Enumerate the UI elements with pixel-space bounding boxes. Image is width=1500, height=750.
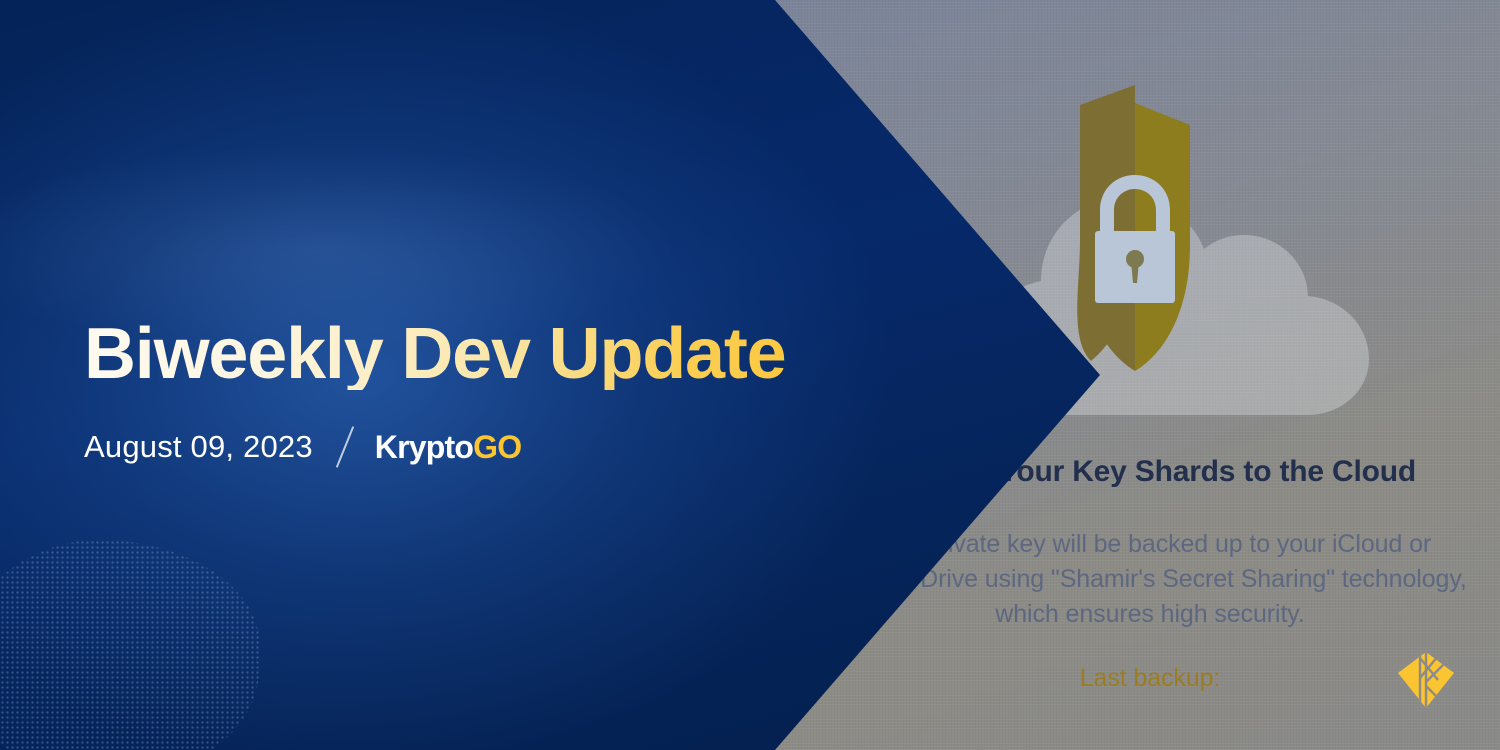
page-title: Biweekly Dev Update — [84, 318, 1044, 390]
slash-separator-icon — [313, 425, 375, 469]
kryptogo-gem-logo-icon — [1394, 648, 1458, 712]
hero-meta-row: August 09, 2023 KryptoGO — [84, 424, 1044, 470]
app-preview-body-line-3: which ensures high security. — [820, 597, 1480, 632]
wordmark-krypto: Krypto — [375, 429, 473, 466]
wordmark-go: GO — [473, 429, 521, 466]
last-backup-label: Last backup: — [820, 664, 1480, 693]
publish-date: August 09, 2023 — [84, 429, 313, 465]
halftone-blob-decoration — [0, 540, 260, 750]
kryptogo-wordmark: KryptoGO — [375, 429, 522, 466]
banner-canvas: Backup Your Key Shards to the Cloud Your… — [0, 0, 1500, 750]
hero-content: Biweekly Dev Update August 09, 2023 Kryp… — [84, 318, 1044, 470]
